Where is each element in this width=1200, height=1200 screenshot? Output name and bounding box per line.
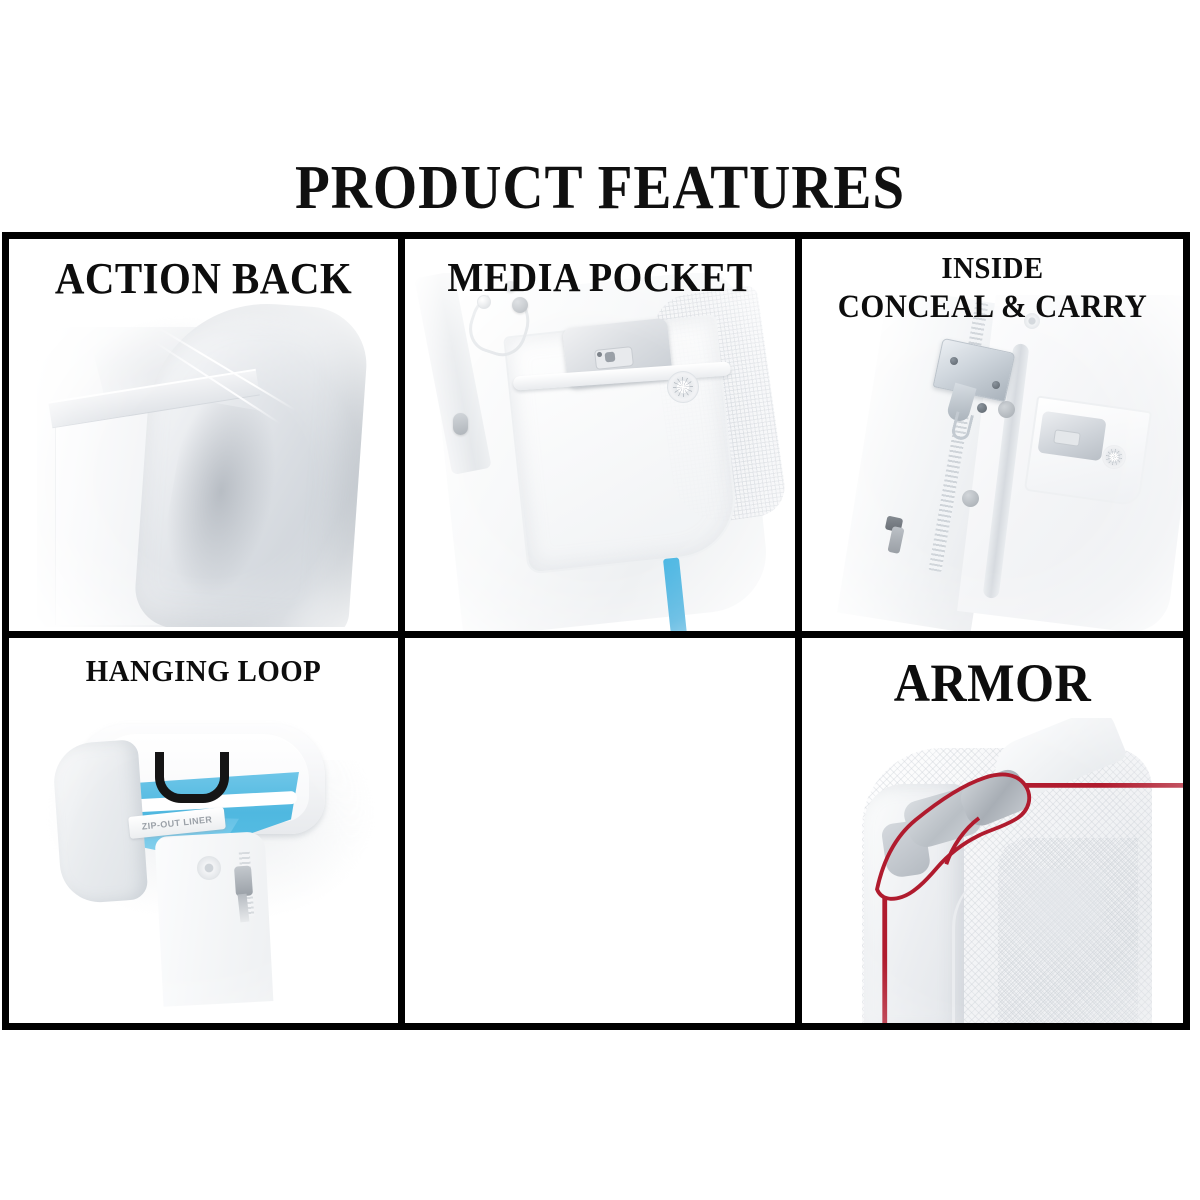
feature-label-action-back: ACTION BACK — [23, 253, 385, 305]
feature-cell-empty — [405, 638, 802, 1023]
strap-stud-2 — [962, 490, 979, 507]
liner-zipper-pull — [234, 865, 253, 896]
page-title: PRODUCT FEATURES — [48, 152, 1152, 224]
strap-stud-1 — [998, 401, 1015, 418]
collar-snap — [197, 856, 221, 880]
feature-label-line-1: INSIDE — [815, 249, 1169, 287]
feature-label-armor: ARMOR — [815, 652, 1169, 714]
feature-label-hanging-loop: HANGING LOOP — [23, 652, 385, 689]
feature-cell-conceal-carry[interactable]: INSIDE CONCEAL & CARRY — [802, 239, 1183, 638]
feature-label-media-pocket: MEDIA POCKET — [419, 253, 782, 302]
product-features-page: PRODUCT FEATURES ACTION BACK — [0, 0, 1200, 1200]
features-grid: ACTION BACK MEDIA PO — [2, 232, 1190, 1030]
pistol-pin-1 — [950, 357, 958, 365]
pistol-pin-3 — [977, 403, 987, 413]
armor-highlight-outline — [802, 718, 1183, 1023]
liner-snap-3 — [453, 413, 468, 435]
feature-cell-action-back[interactable]: ACTION BACK — [9, 239, 405, 638]
feature-cell-hanging-loop[interactable]: HANGING LOOP — [9, 638, 405, 1023]
hanging-loop-photo: ZIP-OUT LINER — [9, 638, 398, 1023]
hanging-loop — [155, 752, 229, 803]
zip-out-liner-tag-text: ZIP-OUT LINER — [141, 814, 212, 831]
feature-label-line-2: CONCEAL & CARRY — [815, 287, 1169, 327]
feature-cell-armor[interactable]: ARMOR — [802, 638, 1183, 1023]
phone-camera-lens — [605, 352, 616, 363]
feature-label-conceal-carry: INSIDE CONCEAL & CARRY — [815, 249, 1169, 327]
feature-cell-media-pocket[interactable]: MEDIA POCKET — [405, 239, 802, 638]
pistol-pin-2 — [992, 381, 1000, 389]
